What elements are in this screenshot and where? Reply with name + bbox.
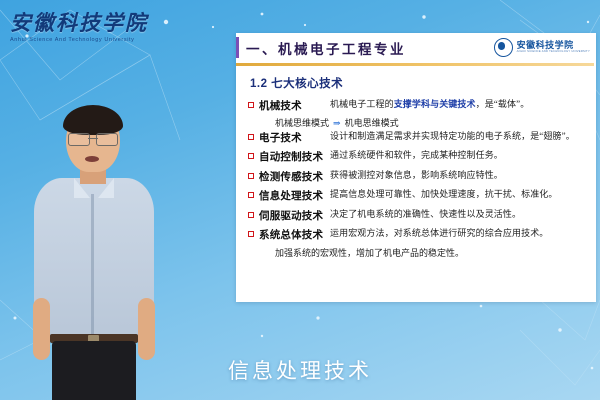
item-label: 电子技术 (259, 130, 325, 145)
glasses-bridge (88, 138, 98, 139)
bullet-square-icon (248, 102, 254, 108)
video-frame: 安徽科技学院 Anhui Science And Technology Univ… (0, 0, 600, 400)
list-item: 系统总体技术 运用宏观方法，对系统总体进行研究的综合应用技术。 加强系统的宏观性… (248, 227, 592, 259)
watermark-chinese-name: 安徽科技学院 (10, 13, 166, 34)
item-label: 检测传感技术 (259, 169, 325, 184)
header-logo-english: ANHUI SCIENCE AND TECHNOLOGY UNIVERSITY (517, 51, 590, 54)
university-emblem-icon (494, 38, 513, 57)
item-description: 通过系统硬件和软件，完成某种控制任务。 (330, 149, 503, 162)
desc-prefix: 机械电子工程的 (330, 99, 394, 109)
desc-highlight: 支撑学科与关键技术 (394, 99, 476, 109)
title-divider-rule (236, 63, 594, 66)
list-item: 检测传感技术 获得被测控对象信息，影响系统响应特性。 (248, 169, 592, 184)
bullet-square-icon (248, 153, 254, 159)
bullet-square-icon (248, 173, 254, 179)
slide-title: 一、机械电子工程专业 (246, 38, 406, 58)
presentation-slide: 一、机械电子工程专业 安徽科技学院 ANHUI SCIENCE AND TECH… (236, 33, 596, 302)
glasses-lens-right (96, 133, 118, 146)
item-label: 机械技术 (259, 98, 325, 113)
bullet-square-icon (248, 231, 254, 237)
video-caption: 信息处理技术 (0, 355, 600, 385)
item-description: 提高信息处理可靠性、加快处理速度，抗干扰、标准化。 (330, 188, 558, 201)
presenter-arm-right (138, 298, 155, 360)
list-item: 伺服驱动技术 决定了机电系统的准确性、快速性以及灵活性。 (248, 208, 592, 223)
presenter-mouth (85, 156, 99, 162)
item-description: 机械电子工程的支撑学科与关键技术，是“载体”。 (330, 98, 529, 111)
presenter-hair (63, 105, 123, 135)
thinking-mode-from: 机械思维模式 (275, 118, 329, 128)
glasses-lens-left (68, 133, 90, 146)
bullet-square-icon (248, 192, 254, 198)
watermark-english-name: Anhui Science And Technology University (10, 37, 166, 43)
item-description: 获得被测控对象信息，影响系统响应特性。 (330, 169, 503, 182)
title-accent-bar (236, 37, 239, 58)
core-technologies-list: 机械技术 机械电子工程的支撑学科与关键技术，是“载体”。 机械思维模式⇒机电思维… (236, 98, 596, 260)
item-label: 信息处理技术 (259, 188, 325, 203)
bullet-square-icon (248, 212, 254, 218)
item-description: 设计和制造满足需求并实现特定功能的电子系统，是“翅膀”。 (330, 130, 575, 143)
item-description-line2: 机械思维模式⇒机电思维模式 (253, 117, 592, 130)
list-item: 电子技术 设计和制造满足需求并实现特定功能的电子系统，是“翅膀”。 (248, 130, 592, 145)
presenter-glasses (67, 133, 119, 144)
header-university-logo: 安徽科技学院 ANHUI SCIENCE AND TECHNOLOGY UNIV… (494, 38, 590, 57)
arrow-right-icon: ⇒ (329, 118, 345, 128)
slide-header: 一、机械电子工程专业 安徽科技学院 ANHUI SCIENCE AND TECH… (236, 33, 596, 63)
header-logo-chinese: 安徽科技学院 (517, 41, 590, 50)
item-description-line2: 加强系统的宏观性，增加了机电产品的稳定性。 (253, 247, 592, 260)
item-description: 决定了机电系统的准确性、快速性以及灵活性。 (330, 208, 521, 221)
thinking-mode-to: 机电思维模式 (345, 118, 399, 128)
list-item: 机械技术 机械电子工程的支撑学科与关键技术，是“载体”。 机械思维模式⇒机电思维… (248, 98, 592, 130)
presenter-arm-left (33, 298, 50, 360)
item-description: 运用宏观方法，对系统总体进行研究的综合应用技术。 (330, 227, 548, 240)
item-label: 系统总体技术 (259, 227, 325, 242)
header-logo-text: 安徽科技学院 ANHUI SCIENCE AND TECHNOLOGY UNIV… (517, 41, 590, 54)
list-item: 自动控制技术 通过系统硬件和软件，完成某种控制任务。 (248, 149, 592, 164)
item-label: 伺服驱动技术 (259, 208, 325, 223)
desc-suffix: ，是“载体”。 (476, 99, 530, 109)
presenter-shirt-placket (91, 194, 94, 336)
item-label: 自动控制技术 (259, 149, 325, 164)
slide-subtitle: 1.2 七大核心技术 (250, 75, 596, 91)
university-watermark: 安徽科技学院 Anhui Science And Technology Univ… (6, 6, 166, 50)
bullet-square-icon (248, 134, 254, 140)
presenter-shirt (34, 178, 154, 338)
list-item: 信息处理技术 提高信息处理可靠性、加快处理速度，抗干扰、标准化。 (248, 188, 592, 203)
